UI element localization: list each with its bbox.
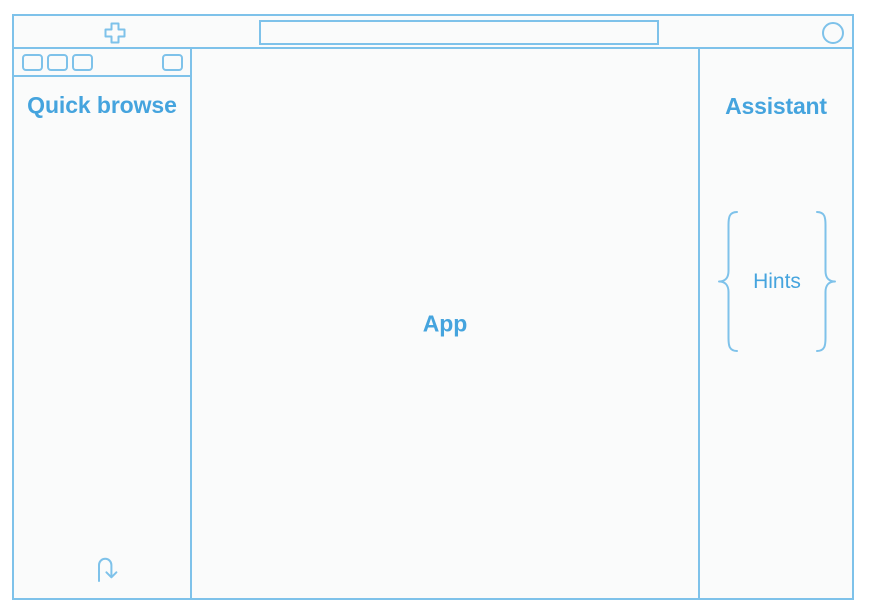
app-label: App [192,310,698,337]
sidebar-content: Quick browse [14,77,190,598]
window-body: Quick browse App Assistant Hints [14,49,852,598]
plus-icon[interactable] [104,22,126,44]
assistant-title: Assistant [700,93,852,120]
sidebar-panel: Quick browse [14,49,192,598]
window-control-2[interactable] [47,54,68,71]
quick-browse-title: Quick browse [14,91,190,120]
hints-group: Hints [706,209,848,354]
window-controls-bar [14,49,190,77]
search-input[interactable] [259,20,659,45]
window-control-3[interactable] [72,54,93,71]
window-control-4[interactable] [162,54,183,71]
wireframe-window: Quick browse App Assistant Hints [12,14,854,600]
app-canvas: App [192,49,700,598]
right-brace-icon [812,209,838,354]
browser-topbar [14,16,852,49]
undo-u-turn-icon[interactable] [94,554,124,584]
circle-avatar-icon[interactable] [822,22,844,44]
assistant-panel: Assistant Hints [700,49,852,598]
window-control-1[interactable] [22,54,43,71]
